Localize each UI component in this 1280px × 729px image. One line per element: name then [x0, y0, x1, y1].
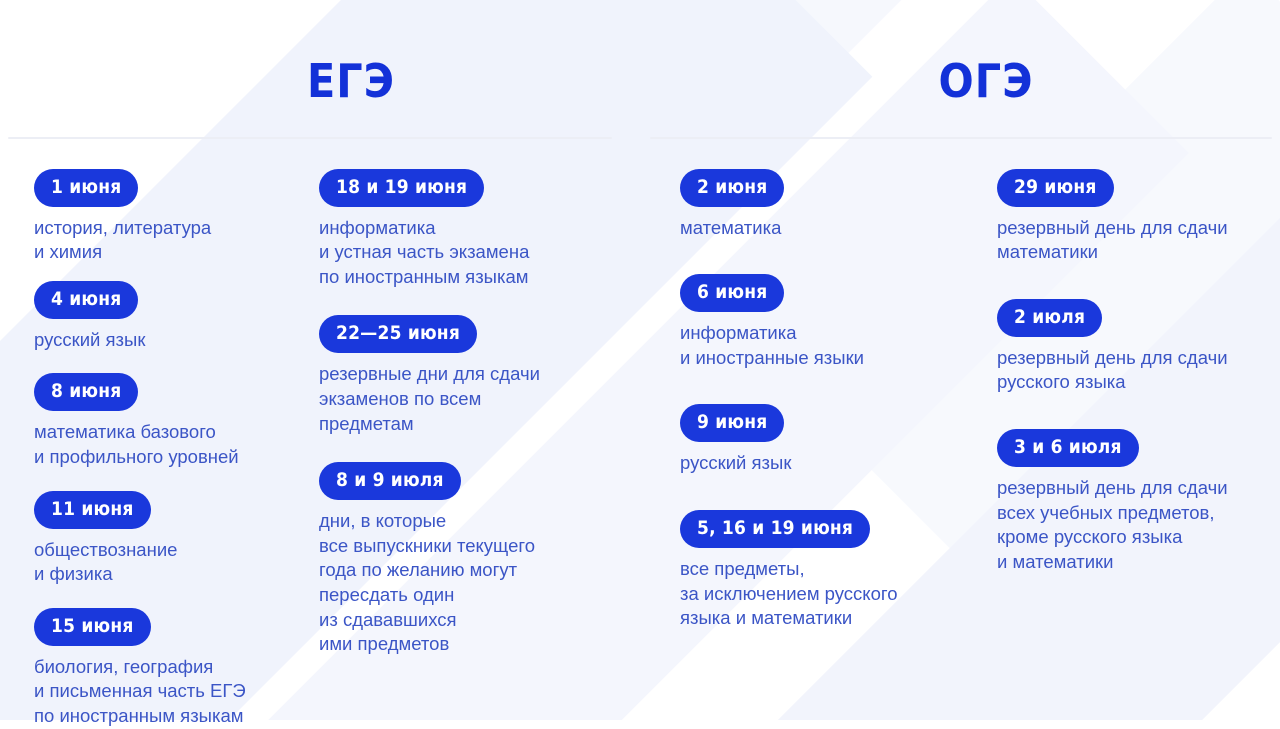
schedule-entry: 9 июня русский язык	[680, 404, 985, 476]
entry-description: все предметы, за исключением русского яз…	[680, 557, 985, 631]
entry-description: биология, география и письменная часть Е…	[34, 655, 305, 729]
entry-description: русский язык	[34, 328, 305, 353]
columns-ege: 1 июня история, литература и химия 4 июн…	[0, 139, 640, 729]
schedule-entry: 29 июня резервный день для сдачи математ…	[997, 169, 1280, 265]
columns-oge: 2 июня математика 6 июня информатика и и…	[640, 139, 1280, 631]
schedule-entry: 6 июня информатика и иностранные языки	[680, 274, 985, 370]
schedule-entry: 8 июня математика базового и профильного…	[34, 373, 305, 469]
date-badge: 8 июня	[34, 373, 138, 411]
date-badge: 9 июня	[680, 404, 784, 442]
schedule-entry: 4 июня русский язык	[34, 281, 305, 353]
date-badge: 8 и 9 июля	[319, 462, 461, 500]
oge-col-2: 29 июня резервный день для сдачи математ…	[985, 169, 1280, 631]
entry-description: история, литература и химия	[34, 216, 305, 265]
date-badge: 1 июня	[34, 169, 138, 207]
schedule-entry: 1 июня история, литература и химия	[34, 169, 305, 265]
panel-title-oge: ОГЭ	[640, 31, 1280, 106]
schedule-entry: 5, 16 и 19 июня все предметы, за исключе…	[680, 510, 985, 631]
oge-col-1: 2 июня математика 6 июня информатика и и…	[640, 169, 985, 631]
entry-description: информатика и устная часть экзамена по и…	[319, 216, 640, 290]
entry-description: математика	[680, 216, 985, 241]
entry-description: резервный день для сдачи всех учебных пр…	[997, 476, 1280, 574]
panel-ege: ЕГЭ 1 июня история, литература и химия 4…	[0, 0, 640, 720]
schedule-entry: 2 июня математика	[680, 169, 985, 241]
schedule-entry: 22—25 июня резервные дни для сдачи экзам…	[319, 315, 640, 436]
date-badge: 15 июня	[34, 608, 151, 646]
date-badge: 2 июля	[997, 299, 1102, 337]
entry-description: дни, в которые все выпускники текущего г…	[319, 509, 640, 657]
schedule-entry: 3 и 6 июля резервный день для сдачи всех…	[997, 429, 1280, 574]
date-badge: 22—25 июня	[319, 315, 477, 353]
date-badge: 2 июня	[680, 169, 784, 207]
schedule-entry: 8 и 9 июля дни, в которые все выпускники…	[319, 462, 640, 657]
ege-col-2: 18 и 19 июня информатика и устная часть …	[305, 169, 640, 729]
panel-oge: ОГЭ 2 июня математика 6 июня информатика…	[640, 0, 1280, 720]
entry-description: резервный день для сдачи русского языка	[997, 346, 1280, 395]
schedule-entry: 15 июня биология, география и письменная…	[34, 608, 305, 729]
entry-description: обществознание и физика	[34, 538, 305, 587]
entry-description: резервные дни для сдачи экзаменов по все…	[319, 362, 640, 436]
date-badge: 11 июня	[34, 491, 151, 529]
date-badge: 18 и 19 июня	[319, 169, 484, 207]
ege-col-1: 1 июня история, литература и химия 4 июн…	[0, 169, 305, 729]
schedule-entry: 2 июля резервный день для сдачи русского…	[997, 299, 1280, 395]
entry-description: информатика и иностранные языки	[680, 321, 985, 370]
date-badge: 29 июня	[997, 169, 1114, 207]
infographic-root: ЕГЭ 1 июня история, литература и химия 4…	[0, 0, 1280, 720]
schedule-entry: 18 и 19 июня информатика и устная часть …	[319, 169, 640, 290]
date-badge: 5, 16 и 19 июня	[680, 510, 870, 548]
date-badge: 4 июня	[34, 281, 138, 319]
schedule-entry: 11 июня обществознание и физика	[34, 491, 305, 587]
date-badge: 3 и 6 июля	[997, 429, 1139, 467]
entry-description: математика базового и профильного уровне…	[34, 420, 305, 469]
entry-description: резервный день для сдачи математики	[997, 216, 1280, 265]
entry-description: русский язык	[680, 451, 985, 476]
panel-title-ege: ЕГЭ	[0, 31, 640, 106]
date-badge: 6 июня	[680, 274, 784, 312]
